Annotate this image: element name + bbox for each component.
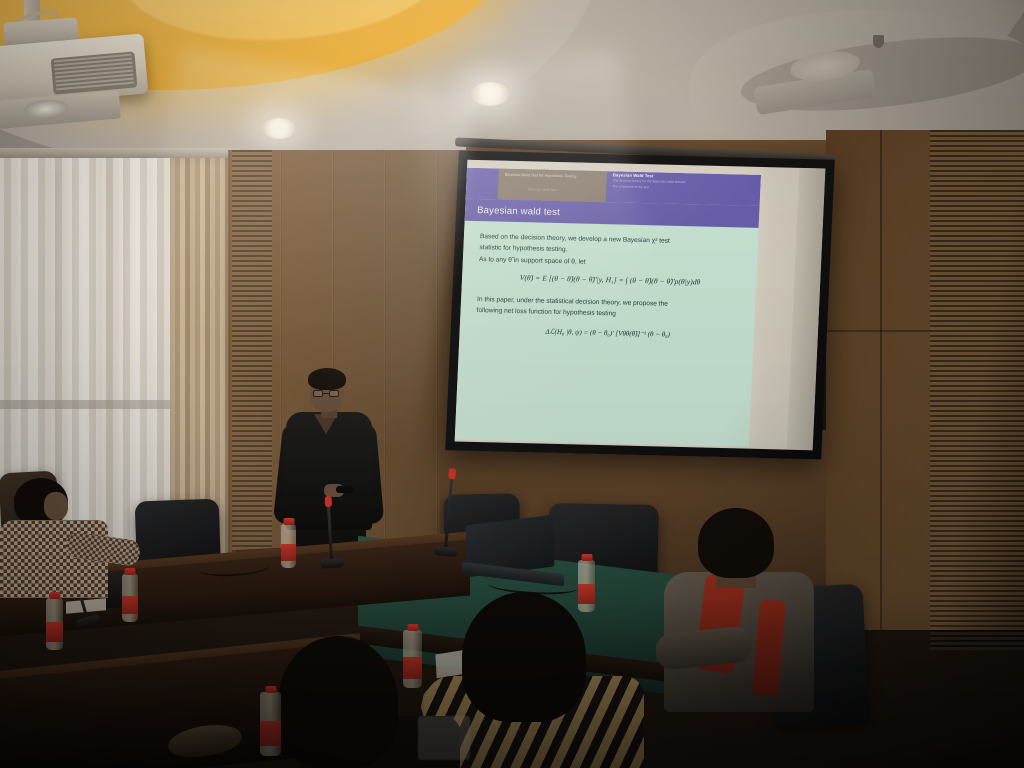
bottle-label <box>578 584 595 604</box>
bottle-label <box>403 657 422 679</box>
microphone-head-icon <box>325 496 333 507</box>
bottle-label <box>281 544 296 561</box>
bottle-cap <box>283 518 294 525</box>
water-bottle <box>46 598 63 650</box>
water-bottle <box>578 560 595 612</box>
slide-nav-right-block: Bayesian Wald Test The decision theory f… <box>612 172 743 193</box>
bottle-label <box>122 596 138 614</box>
water-bottle <box>281 524 296 568</box>
presentation-clicker <box>336 486 353 493</box>
attendee-left-face <box>44 492 68 520</box>
presentation-slide: Bayesian Wald Test for Hypothesis Testin… <box>455 168 761 447</box>
slide-nav-left-block: Bayesian Wald Test for Hypothesis Testin… <box>498 169 607 203</box>
wall-right-seam <box>880 130 882 630</box>
microphone-head-icon <box>448 468 456 480</box>
wall-left-ribbed-section <box>232 150 272 580</box>
slide-nav-left-subtitle: Bayesian Wald Test <box>528 187 602 194</box>
bottle-cap <box>125 568 136 575</box>
projection-screen: Bayesian Wald Test for Hypothesis Testin… <box>445 151 835 460</box>
attendee-front-shirt-print <box>418 716 470 760</box>
glasses-icon <box>313 390 339 397</box>
screen-blank-margin <box>787 168 826 450</box>
projector-vent-icon <box>51 51 138 94</box>
water-bottle <box>260 692 281 756</box>
downlight-icon <box>262 118 296 139</box>
microphone-base <box>320 558 344 568</box>
wall-right-ribbed-section <box>930 130 1024 650</box>
slide-nav-left-title: Bayesian Wald Test for Hypothesis Testin… <box>505 173 605 181</box>
curtain-rail <box>0 148 240 158</box>
bottle-cap <box>407 624 418 631</box>
attendee-front-hair <box>278 636 398 768</box>
presenter-hair <box>308 368 346 390</box>
bottle-label <box>260 721 281 745</box>
sprinkler-head-icon <box>873 35 884 48</box>
window-mullion <box>0 400 175 409</box>
bottle-label <box>46 622 63 642</box>
downlight-icon <box>470 82 510 106</box>
bottle-cap <box>265 686 276 693</box>
water-bottle <box>122 574 138 622</box>
bottle-cap <box>49 592 60 599</box>
water-bottle <box>403 630 422 688</box>
projection-screen-surface: Bayesian Wald Test for Hypothesis Testin… <box>455 160 826 450</box>
slide-body: Based on the decision theory, we develop… <box>460 221 759 341</box>
wall-right-seam-horizontal <box>826 330 930 332</box>
attendee-striped-hair <box>462 592 586 722</box>
attendee-right-hair <box>698 508 774 578</box>
slide-title: Bayesian wald test <box>465 204 560 217</box>
conference-room-photo: Bayesian Wald Test for Hypothesis Testin… <box>0 0 1024 768</box>
bottle-cap <box>581 554 592 561</box>
